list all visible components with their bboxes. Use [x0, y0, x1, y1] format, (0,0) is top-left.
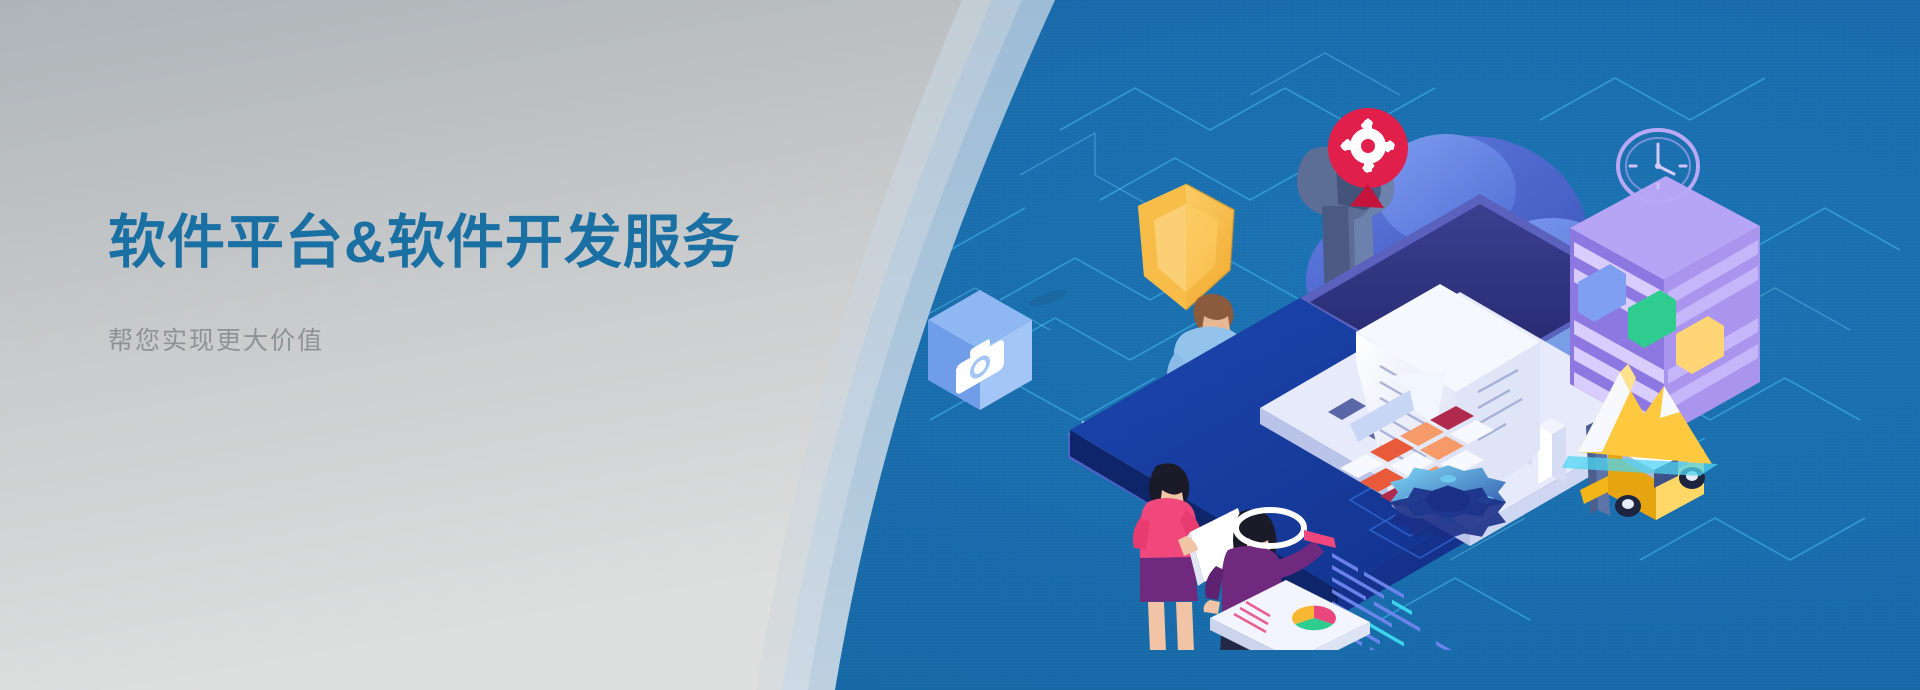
hero-text-block: 软件平台&软件开发服务 帮您实现更大价值	[108, 210, 868, 357]
page-subtitle: 帮您实现更大价值	[108, 321, 868, 357]
security-shield-icon	[1138, 184, 1234, 310]
page-title: 软件平台&软件开发服务	[108, 210, 868, 277]
hero-banner: 软件平台&软件开发服务 帮您实现更大价值	[0, 0, 1920, 690]
